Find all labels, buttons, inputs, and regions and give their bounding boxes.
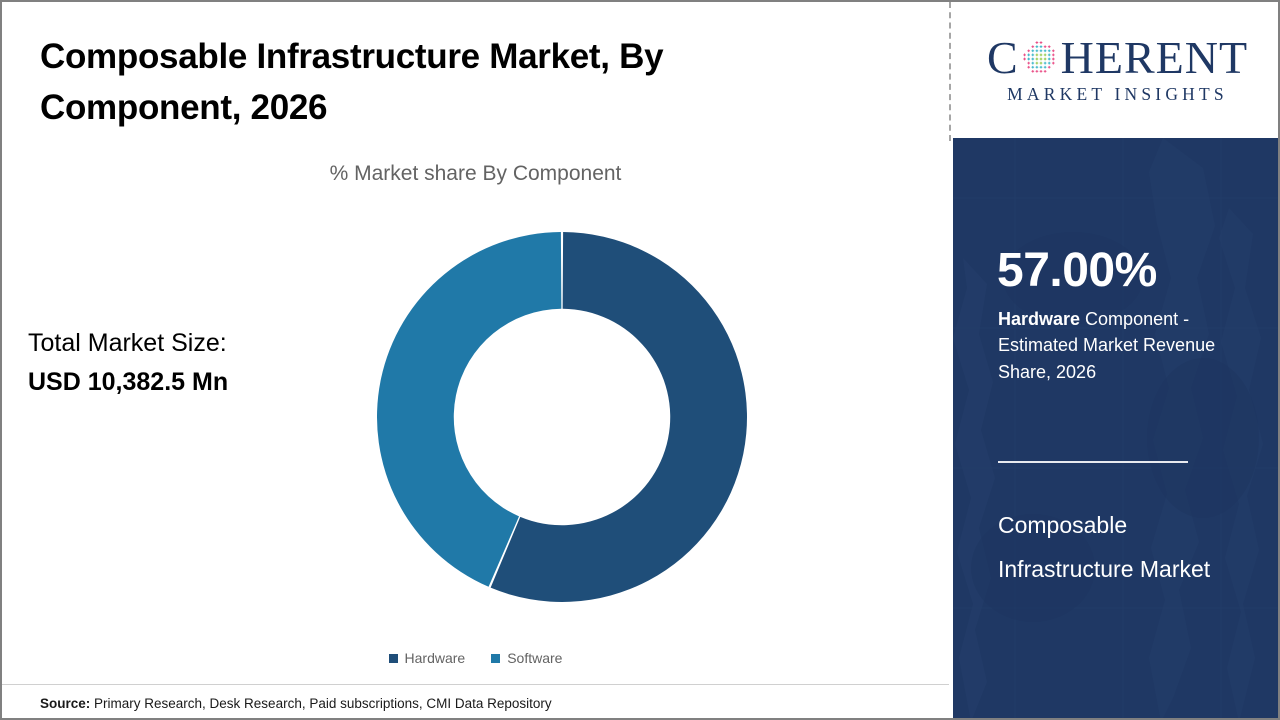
legend-item-hardware[interactable]: Hardware xyxy=(389,650,466,666)
infographic-root: Composable Infrastructure Market, By Com… xyxy=(0,0,1280,720)
total-market-size-value: USD 10,382.5 Mn xyxy=(28,363,228,402)
sidebar: C HERENT MARKET INSIGHTS xyxy=(953,2,1280,720)
brand-logo[interactable]: C HERENT MARKET INSIGHTS xyxy=(953,2,1280,138)
stat-description-strong: Hardware xyxy=(998,309,1080,329)
page-title: Composable Infrastructure Market, By Com… xyxy=(40,32,740,134)
source-text: Primary Research, Desk Research, Paid su… xyxy=(90,696,551,711)
stat-percent-value: 57.00% xyxy=(997,247,1157,295)
legend-swatch-software xyxy=(491,654,500,663)
source-note: Source: Primary Research, Desk Research,… xyxy=(40,696,552,711)
legend-label-hardware: Hardware xyxy=(405,650,466,666)
chart-panel: Composable Infrastructure Market, By Com… xyxy=(2,2,949,720)
slice-label-software: 43.6% xyxy=(764,610,812,630)
stat-highlight-panel: 57.00% Hardware Component - Estimated Ma… xyxy=(953,138,1280,720)
total-market-size-label: Total Market Size: xyxy=(28,324,228,363)
dotted-globe-icon xyxy=(1020,38,1060,78)
vertical-dashed-divider xyxy=(949,2,951,141)
chart-legend: Hardware Software xyxy=(2,650,949,666)
legend-item-software[interactable]: Software xyxy=(491,650,562,666)
donut-chart-svg xyxy=(377,232,747,602)
stat-content: 57.00% Hardware Component - Estimated Ma… xyxy=(953,138,1280,720)
logo-letter-c: C xyxy=(987,35,1019,81)
legend-label-software: Software xyxy=(507,650,562,666)
stat-divider xyxy=(998,461,1188,463)
total-market-size: Total Market Size: USD 10,382.5 Mn xyxy=(28,324,228,402)
chart-subtitle: % Market share By Component xyxy=(2,162,949,186)
source-divider xyxy=(2,684,949,685)
sidebar-market-name: Composable Infrastructure Market xyxy=(998,503,1248,592)
legend-swatch-hardware xyxy=(389,654,398,663)
logo-word-rest: HERENT xyxy=(1061,35,1248,81)
stat-description: Hardware Component - Estimated Market Re… xyxy=(998,306,1246,385)
logo-wordmark: C HERENT xyxy=(987,35,1248,81)
donut-chart: 43.6% 56.4% xyxy=(377,232,747,602)
source-label: Source: xyxy=(40,696,90,711)
donut-slices xyxy=(377,232,747,602)
logo-tagline: MARKET INSIGHTS xyxy=(1007,84,1228,105)
